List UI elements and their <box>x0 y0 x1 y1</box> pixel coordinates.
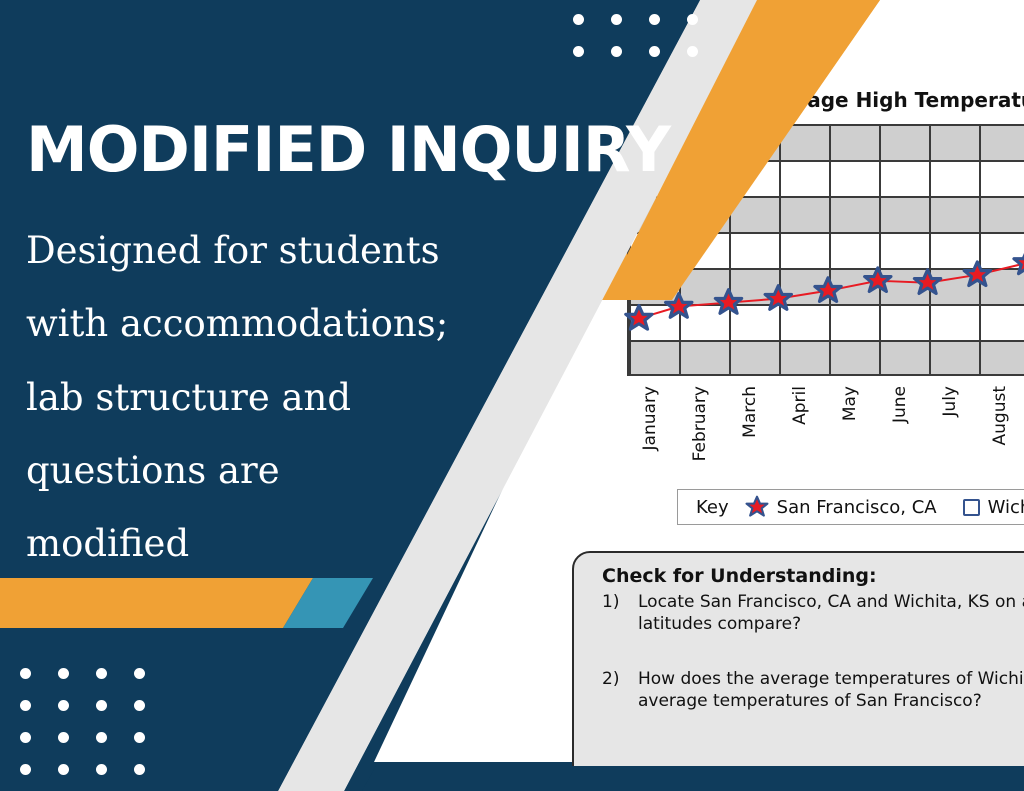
question-2: 2) How does the average temperatures of … <box>602 668 1024 713</box>
dot <box>20 668 31 679</box>
orange-banner <box>0 578 313 628</box>
x-tick-may: May <box>840 386 860 421</box>
question-2-line-2: average temperatures of San Francisco? <box>638 691 982 711</box>
x-tick-april: April <box>790 386 810 425</box>
dot <box>611 14 622 25</box>
dot <box>687 46 698 57</box>
x-tick-february: February <box>690 386 710 461</box>
body-line-5: modified <box>26 507 586 580</box>
question-2-text: How does the average temperatures of Wic… <box>638 668 1024 713</box>
dot <box>96 668 107 679</box>
body-line-3: lab structure and <box>26 361 586 434</box>
dot-grid-bottom <box>20 668 172 791</box>
dot <box>20 764 31 775</box>
dot <box>611 46 622 57</box>
question-1-line-1: Locate San Francisco, CA and Wichita, KS… <box>638 592 1024 612</box>
dot <box>649 14 660 25</box>
x-tick-march: March <box>740 386 760 438</box>
legend-item-san-francisco: San Francisco, CA <box>745 495 937 519</box>
dot <box>573 14 584 25</box>
body-line-1: Designed for students <box>26 214 586 287</box>
dot <box>134 700 145 711</box>
x-tick-august: August <box>990 386 1010 446</box>
series-san-francisco <box>629 124 1024 374</box>
body-copy: Designed for students with accommodation… <box>26 214 586 580</box>
chart-plot-area <box>627 124 1024 376</box>
legend-label-wichita: Wichita, KS <box>988 497 1024 518</box>
question-1-text: Locate San Francisco, CA and Wichita, KS… <box>638 591 1024 636</box>
legend-title: Key <box>678 497 745 518</box>
dot <box>96 764 107 775</box>
x-tick-july: July <box>940 386 960 417</box>
axis-x <box>629 374 1024 376</box>
slide-canvas: Average High Temperatures <box>0 0 1024 791</box>
body-line-4: questions are <box>26 434 586 507</box>
check-for-understanding-box: Check for Understanding: 1) Locate San F… <box>572 551 1024 791</box>
dot <box>96 732 107 743</box>
question-2-number: 2) <box>602 668 624 713</box>
star-icon <box>745 495 769 519</box>
dot <box>58 700 69 711</box>
chart-title: Average High Temperatures <box>756 88 1024 112</box>
dot <box>20 732 31 743</box>
question-1: 1) Locate San Francisco, CA and Wichita,… <box>602 591 1024 636</box>
body-line-2: with accommodations; <box>26 287 586 360</box>
legend-label-san-francisco: San Francisco, CA <box>777 497 937 518</box>
page-title: MODIFIED INQUIRY <box>26 118 686 181</box>
square-icon <box>963 499 980 516</box>
dot <box>58 732 69 743</box>
chart-legend: Key San Francisco, CA Wichita, KS <box>677 489 1024 525</box>
x-tick-january: January <box>640 386 660 450</box>
check-for-understanding-title: Check for Understanding: <box>602 565 877 587</box>
dot <box>96 700 107 711</box>
question-1-number: 1) <box>602 591 624 636</box>
dot <box>573 46 584 57</box>
dot <box>20 700 31 711</box>
dot-grid-top <box>573 14 725 78</box>
dot <box>649 46 660 57</box>
dot <box>687 14 698 25</box>
dot <box>134 732 145 743</box>
x-tick-june: June <box>890 386 910 423</box>
question-1-line-2: latitudes compare? <box>638 614 801 634</box>
dot <box>58 764 69 775</box>
dot <box>134 668 145 679</box>
question-2-line-1: How does the average temperatures of Wic… <box>638 669 1024 689</box>
dot <box>58 668 69 679</box>
legend-item-wichita: Wichita, KS <box>963 497 1024 518</box>
dot <box>134 764 145 775</box>
